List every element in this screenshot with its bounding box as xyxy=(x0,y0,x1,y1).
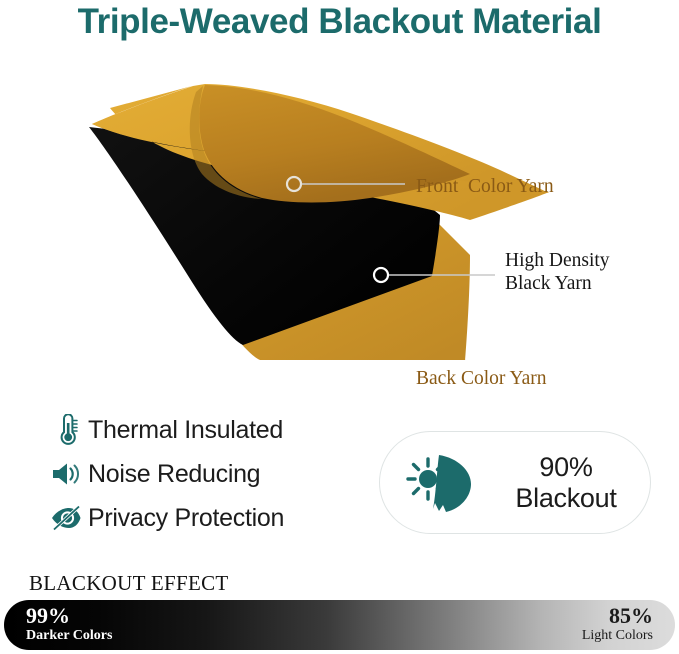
blackout-caption: Blackout xyxy=(515,483,616,513)
feature-label: Thermal Insulated xyxy=(88,416,283,445)
light-percent: 85% xyxy=(582,605,653,627)
darker-percent: 99% xyxy=(26,605,112,627)
label-back-color-yarn: Back Color Yarn xyxy=(416,367,547,390)
label-high-density-black-yarn: High Density Black Yarn xyxy=(505,249,610,295)
eye-slash-icon xyxy=(44,505,88,531)
blackout-badge: 90% Blackout xyxy=(379,431,651,534)
light-caption: Light Colors xyxy=(582,629,653,643)
speaker-icon xyxy=(44,460,88,488)
feature-item-privacy-protection: Privacy Protection xyxy=(44,496,364,540)
feature-item-noise-reducing: Noise Reducing xyxy=(44,452,364,496)
page-title: Triple-Weaved Blackout Material xyxy=(0,2,679,42)
blackout-effect-gradient-bar: 99% Darker Colors 85% Light Colors xyxy=(4,600,675,650)
feature-item-thermal-insulated: Thermal Insulated xyxy=(44,408,364,452)
feature-list: Thermal Insulated Noise Reducing Privacy… xyxy=(44,408,364,540)
fabric-layers-diagram: Front Color Yarn High Density Black Yarn… xyxy=(0,70,679,360)
feature-label: Noise Reducing xyxy=(88,460,260,489)
thermometer-icon xyxy=(44,414,88,446)
blackout-effect-darker: 99% Darker Colors xyxy=(26,605,112,643)
feature-label: Privacy Protection xyxy=(88,504,284,533)
blackout-effect-heading: BLACKOUT EFFECT xyxy=(29,571,229,596)
sun-curtain-icon xyxy=(380,449,494,517)
blackout-percent: 90% xyxy=(539,452,592,482)
label-front-color-yarn: Front Color Yarn xyxy=(416,175,554,198)
blackout-effect-light: 85% Light Colors xyxy=(582,605,653,643)
darker-caption: Darker Colors xyxy=(26,629,112,643)
blackout-badge-text: 90% Blackout xyxy=(494,452,650,512)
